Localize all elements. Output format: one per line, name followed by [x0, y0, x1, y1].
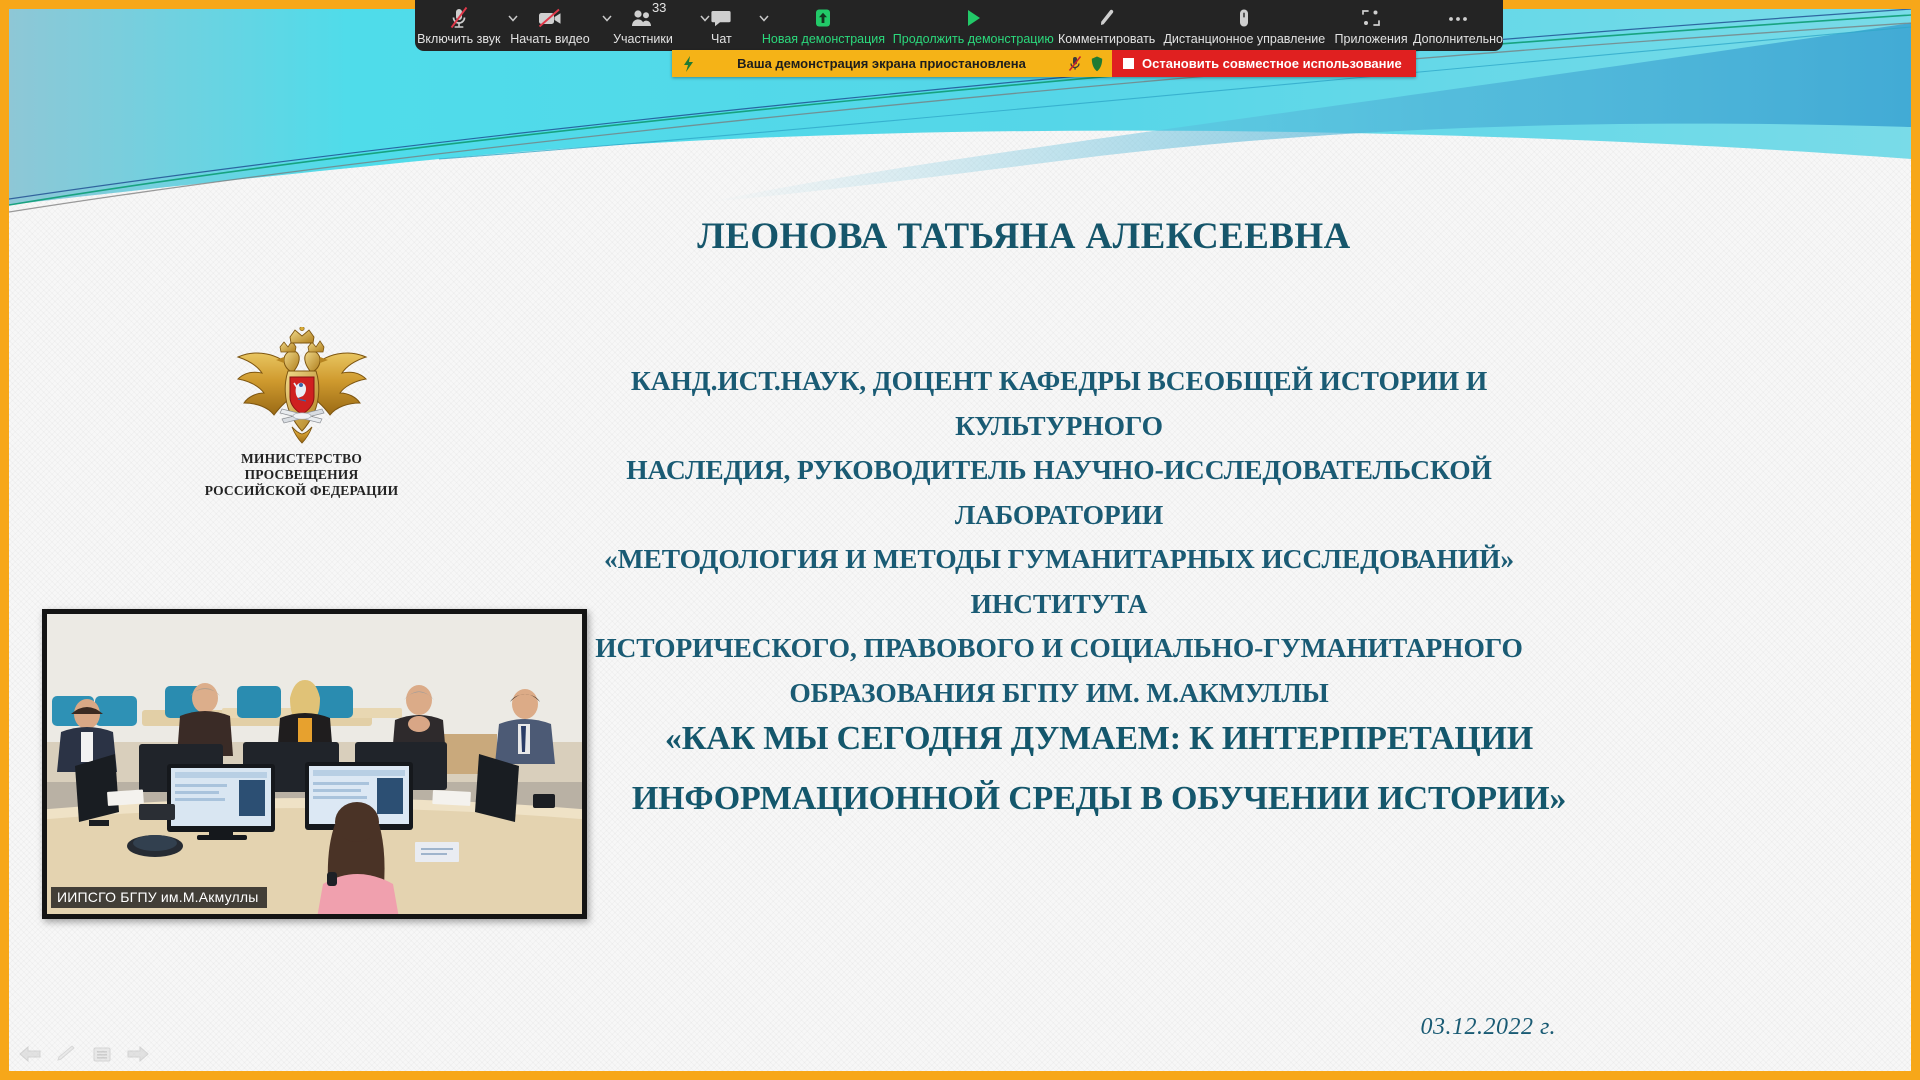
- video-thumbnail[interactable]: ИИПСГО БГПУ им.М.Акмуллы: [42, 609, 587, 919]
- resume-play-icon: [962, 6, 984, 30]
- stop-sharing-label: Остановить совместное использование: [1142, 56, 1402, 71]
- toolbar-button-chat[interactable]: Чат: [689, 0, 755, 46]
- toolbar-button-remote-control[interactable]: Дистанционное управление: [1160, 0, 1330, 46]
- toolbar-button-resume-share[interactable]: Продолжить демонстрацию: [893, 0, 1054, 46]
- talk-title-line: «КАК МЫ СЕГОДНЯ ДУМАЕМ: К ИНТЕРПРЕТАЦИИ: [569, 709, 1629, 769]
- apps-icon: [1360, 6, 1382, 30]
- description-line: «МЕТОДОЛОГИЯ И МЕТОДЫ ГУМАНИТАРНЫХ ИССЛЕ…: [524, 537, 1594, 626]
- microphone-muted-icon: [449, 6, 469, 30]
- stop-square-icon: [1123, 58, 1134, 69]
- share-paused-banner: Ваша демонстрация экрана приостановлена: [672, 50, 1112, 77]
- toolbar-label: Комментировать: [1058, 33, 1155, 46]
- toolbar-button-participants[interactable]: 33 Участники: [597, 0, 688, 46]
- participants-count-badge: 33: [652, 1, 666, 14]
- zoom-meeting-toolbar: Включить звук Начать видео: [415, 0, 1503, 51]
- emblem-caption-line: МИНИСТЕРСТВО ПРОСВЕЩЕНИЯ: [194, 451, 409, 483]
- presenter-description: КАНД.ИСТ.НАУК, ДОЦЕНТ КАФЕДРЫ ВСЕОБЩЕЙ И…: [524, 359, 1594, 715]
- talk-title: «КАК МЫ СЕГОДНЯ ДУМАЕМ: К ИНТЕРПРЕТАЦИИ …: [569, 709, 1629, 829]
- presenter-name: ЛЕОНОВА ТАТЬЯНА АЛЕКСЕЕВНА: [479, 217, 1569, 258]
- emblem-caption-line: РОССИЙСКОЙ ФЕДЕРАЦИИ: [194, 483, 409, 499]
- microphone-muted-small-icon[interactable]: [1068, 55, 1082, 73]
- toolbar-label: Новая демонстрация: [762, 33, 885, 46]
- stop-sharing-button[interactable]: Остановить совместное использование: [1112, 50, 1416, 77]
- slideshow-nav-toolbar[interactable]: [19, 1045, 149, 1063]
- slide-date: 03.12.2022 г.: [1420, 1014, 1556, 1041]
- video-participant-label: ИИПСГО БГПУ им.М.Акмуллы: [51, 887, 267, 908]
- pen-icon[interactable]: [55, 1045, 77, 1063]
- presentation-slide-frame: ЛЕОНОВА ТАТЬЯНА АЛЕКСЕЕВНА КАНД.ИСТ.НАУК…: [0, 0, 1920, 1080]
- toolbar-label: Продолжить демонстрацию: [893, 33, 1054, 46]
- russian-coat-of-arms-icon: [222, 327, 382, 445]
- toolbar-label: Чат: [711, 33, 732, 46]
- shield-icon[interactable]: [1090, 55, 1104, 73]
- toolbar-label: Дополнительно: [1413, 33, 1503, 46]
- next-slide-icon[interactable]: [127, 1045, 149, 1063]
- description-line: ИСТОРИЧЕСКОГО, ПРАВОВОГО И СОЦИАЛЬНО-ГУМ…: [524, 626, 1594, 671]
- talk-title-line: ИНФОРМАЦИОННОЙ СРЕДЫ В ОБУЧЕНИИ ИСТОРИИ»: [569, 769, 1629, 829]
- toolbar-button-start-video[interactable]: Начать видео: [503, 0, 598, 46]
- ministry-emblem-block: МИНИСТЕРСТВО ПРОСВЕЩЕНИЯ РОССИЙСКОЙ ФЕДЕ…: [194, 327, 409, 500]
- screen-root: ЛЕОНОВА ТАТЬЯНА АЛЕКСЕЕВНА КАНД.ИСТ.НАУК…: [0, 0, 1920, 1080]
- toolbar-label: Приложения: [1335, 33, 1408, 46]
- bolt-icon: [682, 55, 695, 73]
- annotate-pen-icon: [1096, 6, 1118, 30]
- toolbar-button-annotate[interactable]: Комментировать: [1054, 0, 1160, 46]
- toolbar-button-new-share[interactable]: Новая демонстрация: [754, 0, 893, 46]
- toolbar-label: Начать видео: [510, 33, 589, 46]
- more-ellipsis-icon: [1445, 6, 1471, 30]
- presentation-slide: ЛЕОНОВА ТАТЬЯНА АЛЕКСЕЕВНА КАНД.ИСТ.НАУК…: [9, 9, 1911, 1071]
- description-line: НАСЛЕДИЯ, РУКОВОДИТЕЛЬ НАУЧНО-ИССЛЕДОВАТ…: [524, 448, 1594, 537]
- description-line: КАНД.ИСТ.НАУК, ДОЦЕНТ КАФЕДРЫ ВСЕОБЩЕЙ И…: [524, 359, 1594, 448]
- toolbar-label: Дистанционное управление: [1163, 33, 1325, 46]
- toolbar-button-more[interactable]: Дополнительно: [1413, 0, 1503, 46]
- remote-control-mouse-icon: [1235, 6, 1253, 30]
- toolbar-label: Включить звук: [417, 33, 500, 46]
- share-paused-text: Ваша демонстрация экрана приостановлена: [703, 56, 1060, 71]
- camera-off-icon: [537, 6, 563, 30]
- menu-icon[interactable]: [91, 1045, 113, 1063]
- chat-bubble-icon: [710, 6, 732, 30]
- toolbar-button-apps[interactable]: Приложения: [1329, 0, 1413, 46]
- screen-share-status-bar: Ваша демонстрация экрана приостановлена …: [672, 50, 1416, 77]
- toolbar-button-mute[interactable]: Включить звук: [415, 0, 503, 46]
- conference-room-photo: [47, 614, 582, 914]
- previous-slide-icon[interactable]: [19, 1045, 41, 1063]
- share-screen-up-arrow-icon: [811, 6, 835, 30]
- toolbar-label: Участники: [613, 33, 673, 46]
- emblem-caption: МИНИСТЕРСТВО ПРОСВЕЩЕНИЯ РОССИЙСКОЙ ФЕДЕ…: [194, 451, 409, 500]
